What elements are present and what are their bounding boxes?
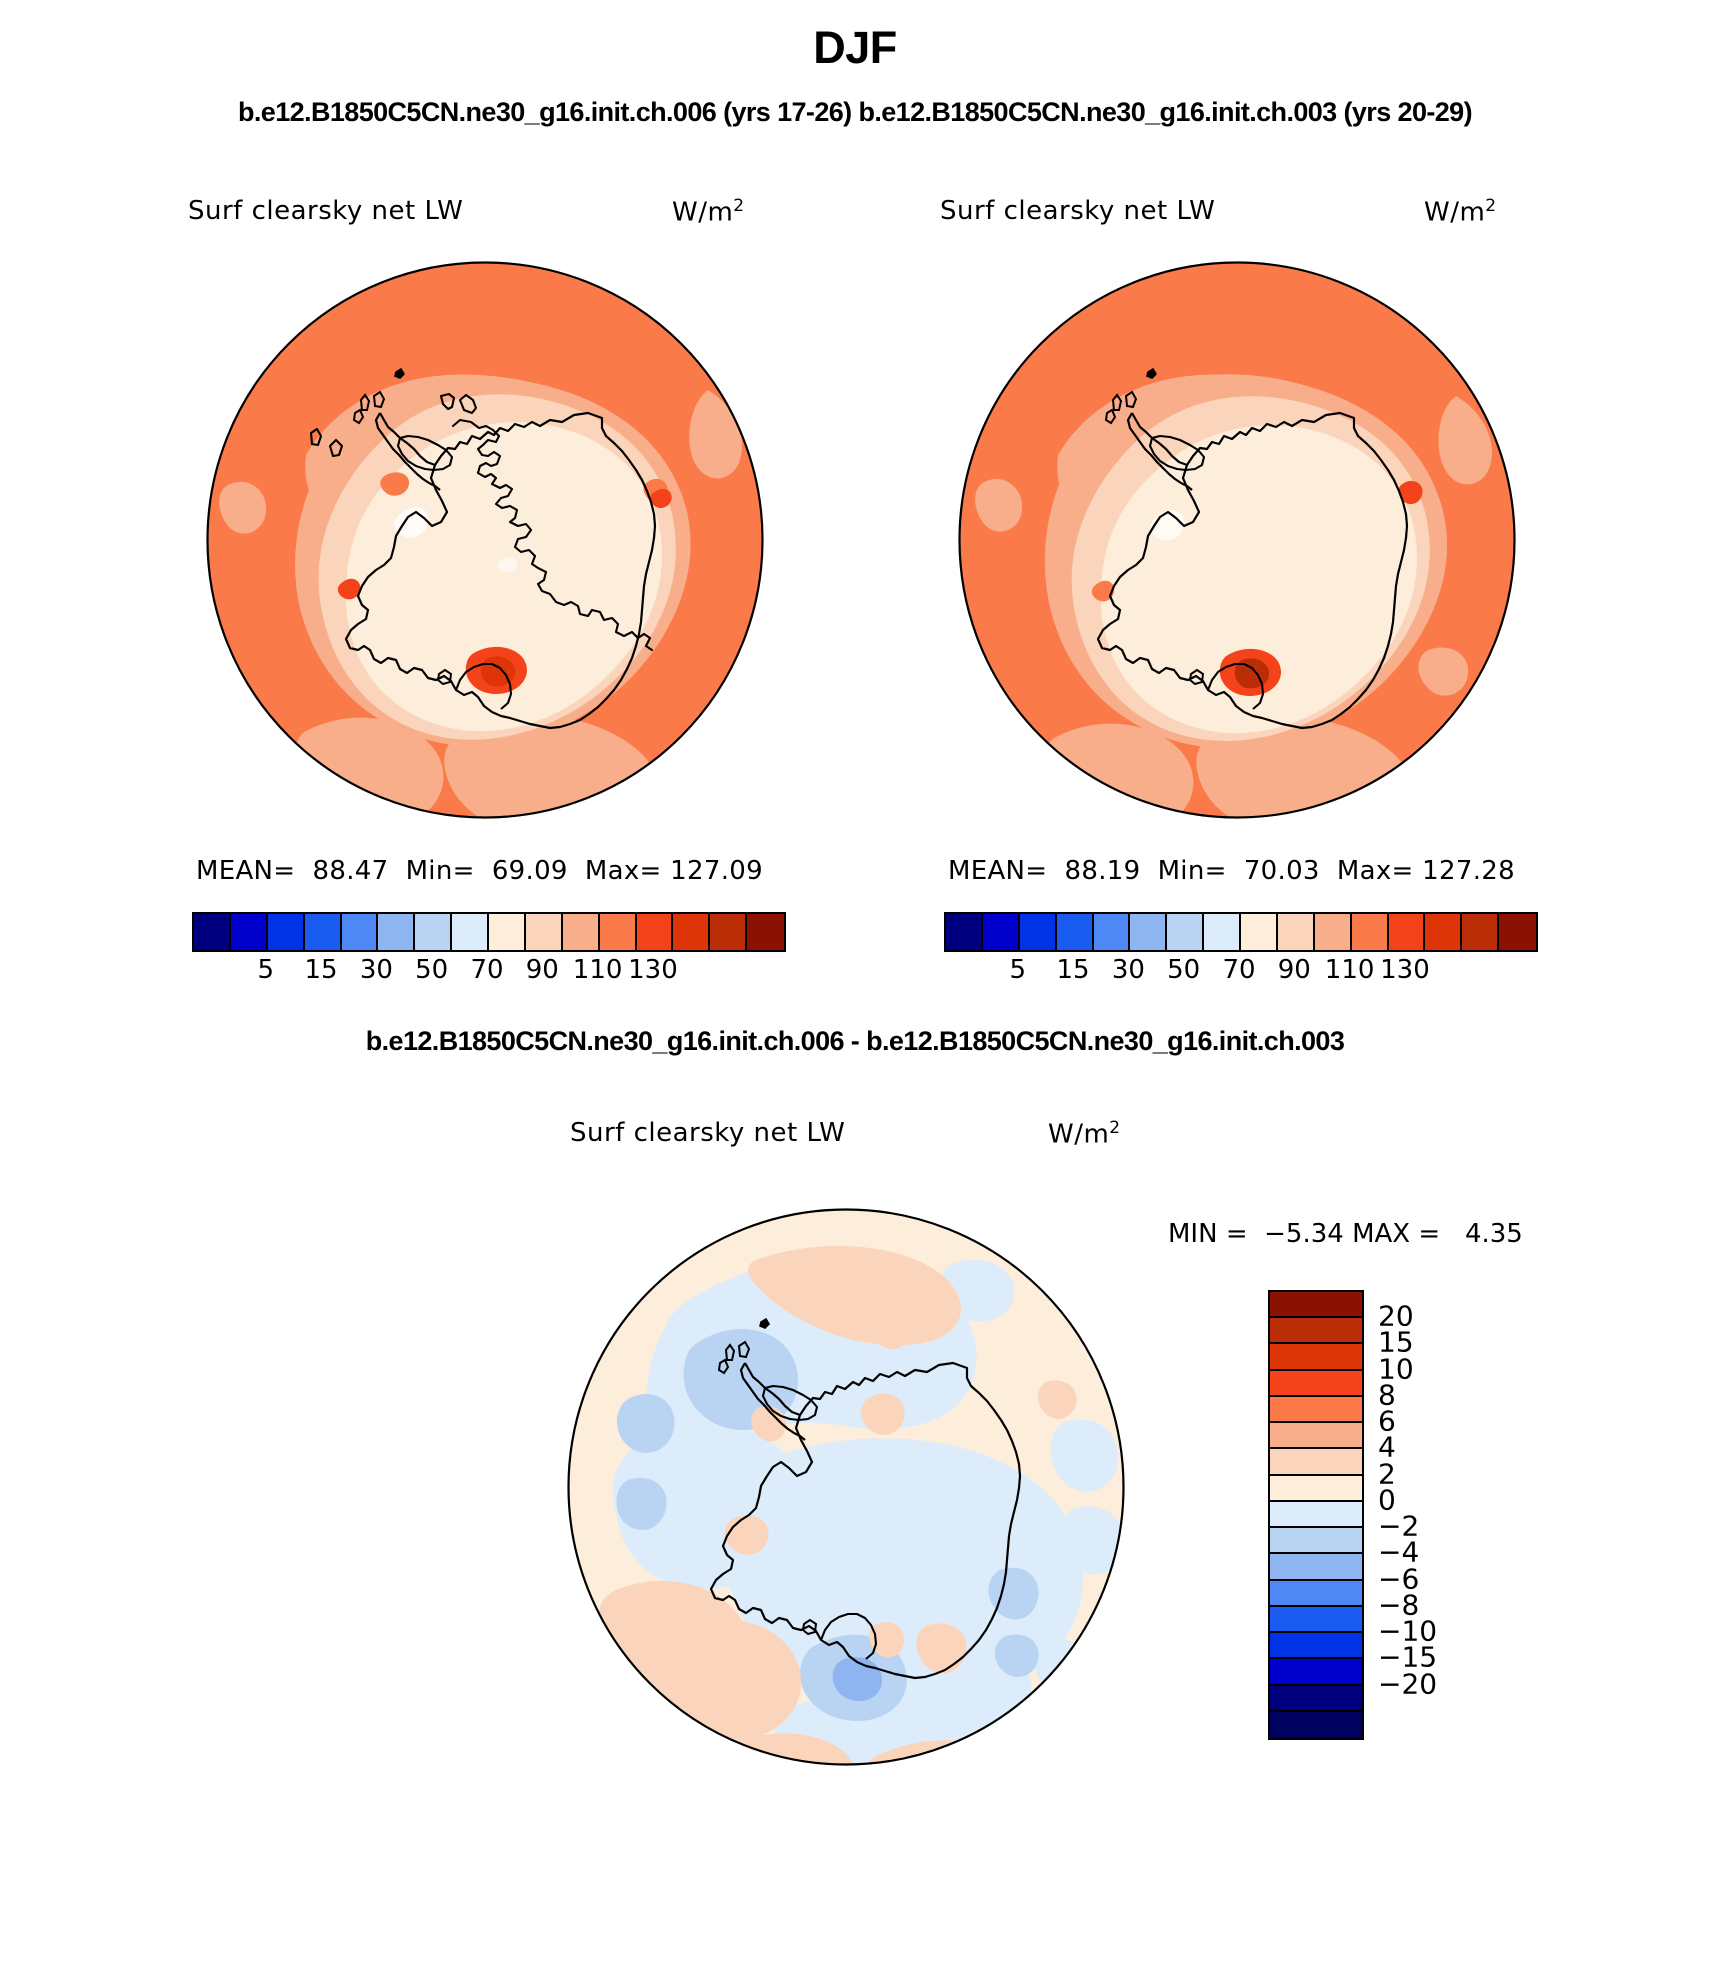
colorbar-swatch — [1270, 1528, 1362, 1554]
colorbar-tick-label: 110 — [1325, 955, 1375, 985]
colorbar-swatch — [1270, 1397, 1362, 1423]
right-units-text: W/m — [1424, 198, 1485, 228]
colorbar-swatch — [710, 914, 747, 950]
colorbar-tick-label: 50 — [415, 955, 448, 985]
colorbar-swatch — [637, 914, 674, 950]
colorbar-swatch — [1270, 1686, 1362, 1712]
colorbar-swatch — [1270, 1292, 1362, 1318]
colorbar-swatch — [1270, 1344, 1362, 1370]
colorbar-swatch — [1270, 1554, 1362, 1580]
left-units-text: W/m — [672, 198, 733, 228]
colorbar-swatch — [1270, 1712, 1362, 1738]
colorbar-swatch — [1270, 1449, 1362, 1475]
left-colorbar-labels: 51530507090110130 — [192, 955, 782, 989]
colorbar-swatch — [747, 914, 784, 950]
colorbar-tick-label: 50 — [1167, 955, 1200, 985]
colorbar-swatch — [1499, 914, 1536, 950]
colorbar-tick-label: 30 — [1112, 955, 1145, 985]
colorbar-swatch — [526, 914, 563, 950]
colorbar-swatch — [1270, 1423, 1362, 1449]
colorbar-swatch — [1462, 914, 1499, 950]
difference-title: b.e12.B1850C5CN.ne30_g16.init.ch.006 - b… — [0, 1026, 1710, 1057]
colorbar-swatch — [1270, 1607, 1362, 1633]
left-panel-field-label: Surf clearsky net LW — [188, 196, 463, 226]
left-panel-stats: MEAN= 88.47 Min= 69.09 Max= 127.09 — [196, 856, 763, 886]
colorbar-swatch — [1352, 914, 1389, 950]
diff-field-name: Surf clearsky net LW — [570, 1118, 845, 1148]
colorbar-tick-label: 70 — [470, 955, 503, 985]
figure-canvas: DJF b.e12.B1850C5CN.ne30_g16.init.ch.006… — [0, 0, 1710, 1972]
colorbar-swatch — [1278, 914, 1315, 950]
colorbar-tick-label: 130 — [628, 955, 678, 985]
colorbar-swatch — [1270, 1371, 1362, 1397]
diff-colorbar-labels: 20151086420−2−4−6−8−10−15−20 — [1378, 1290, 1488, 1736]
colorbar-swatch — [673, 914, 710, 950]
right-polar-map — [940, 250, 1540, 840]
colorbar-swatch — [1270, 1318, 1362, 1344]
left-colorbar — [192, 912, 786, 952]
diff-panel-field-label: Surf clearsky net LW — [570, 1118, 845, 1148]
colorbar-tick-label: 30 — [360, 955, 393, 985]
colorbar-swatch — [1389, 914, 1426, 950]
colorbar-tick-label: 70 — [1222, 955, 1255, 985]
diff-colorbar — [1268, 1290, 1364, 1740]
left-panel-units: W/m2 — [672, 196, 745, 228]
left-units-exponent: 2 — [733, 196, 744, 216]
figure-title: DJF — [0, 22, 1710, 74]
diff-polar-map — [556, 1190, 1156, 1790]
colorbar-tick-label: 90 — [526, 955, 559, 985]
colorbar-swatch — [415, 914, 452, 950]
right-panel-stats: MEAN= 88.19 Min= 70.03 Max= 127.28 — [948, 856, 1515, 886]
colorbar-tick-label: 130 — [1380, 955, 1430, 985]
colorbar-tick-label: 110 — [573, 955, 623, 985]
colorbar-tick-label: 5 — [257, 955, 274, 985]
colorbar-tick-label: 90 — [1278, 955, 1311, 985]
colorbar-swatch — [1094, 914, 1131, 950]
colorbar-swatch — [983, 914, 1020, 950]
colorbar-swatch — [268, 914, 305, 950]
colorbar-swatch — [600, 914, 637, 950]
colorbar-swatch — [378, 914, 415, 950]
colorbar-swatch — [1270, 1659, 1362, 1685]
colorbar-swatch — [1020, 914, 1057, 950]
colorbar-tick-label: 5 — [1009, 955, 1026, 985]
colorbar-swatch — [1425, 914, 1462, 950]
right-panel-units: W/m2 — [1424, 196, 1497, 228]
colorbar-swatch — [1130, 914, 1167, 950]
colorbar-swatch — [1057, 914, 1094, 950]
colorbar-swatch — [946, 914, 983, 950]
figure-subtitle: b.e12.B1850C5CN.ne30_g16.init.ch.006 (yr… — [0, 97, 1710, 128]
colorbar-swatch — [1270, 1476, 1362, 1502]
colorbar-swatch — [452, 914, 489, 950]
colorbar-tick-label: −20 — [1378, 1667, 1437, 1700]
colorbar-swatch — [563, 914, 600, 950]
colorbar-swatch — [342, 914, 379, 950]
right-colorbar-labels: 51530507090110130 — [944, 955, 1534, 989]
colorbar-swatch — [194, 914, 231, 950]
right-colorbar — [944, 912, 1538, 952]
colorbar-swatch — [489, 914, 526, 950]
colorbar-swatch — [1241, 914, 1278, 950]
right-panel-field-label: Surf clearsky net LW — [940, 196, 1215, 226]
colorbar-swatch — [231, 914, 268, 950]
diff-panel-units: W/m2 — [1048, 1118, 1121, 1150]
left-polar-map — [188, 250, 788, 840]
right-units-exponent: 2 — [1485, 196, 1496, 216]
colorbar-swatch — [1270, 1633, 1362, 1659]
colorbar-swatch — [1167, 914, 1204, 950]
colorbar-swatch — [1204, 914, 1241, 950]
diff-units-exponent: 2 — [1109, 1118, 1120, 1138]
left-field-name: Surf clearsky net LW — [188, 196, 463, 226]
diff-minmax-label: MIN = −5.34 MAX = 4.35 — [1168, 1219, 1523, 1249]
right-field-name: Surf clearsky net LW — [940, 196, 1215, 226]
diff-units-text: W/m — [1048, 1120, 1109, 1150]
colorbar-swatch — [1270, 1502, 1362, 1528]
colorbar-tick-label: 15 — [1057, 955, 1090, 985]
colorbar-swatch — [1315, 914, 1352, 950]
colorbar-tick-label: 15 — [305, 955, 338, 985]
colorbar-swatch — [1270, 1581, 1362, 1607]
colorbar-swatch — [305, 914, 342, 950]
